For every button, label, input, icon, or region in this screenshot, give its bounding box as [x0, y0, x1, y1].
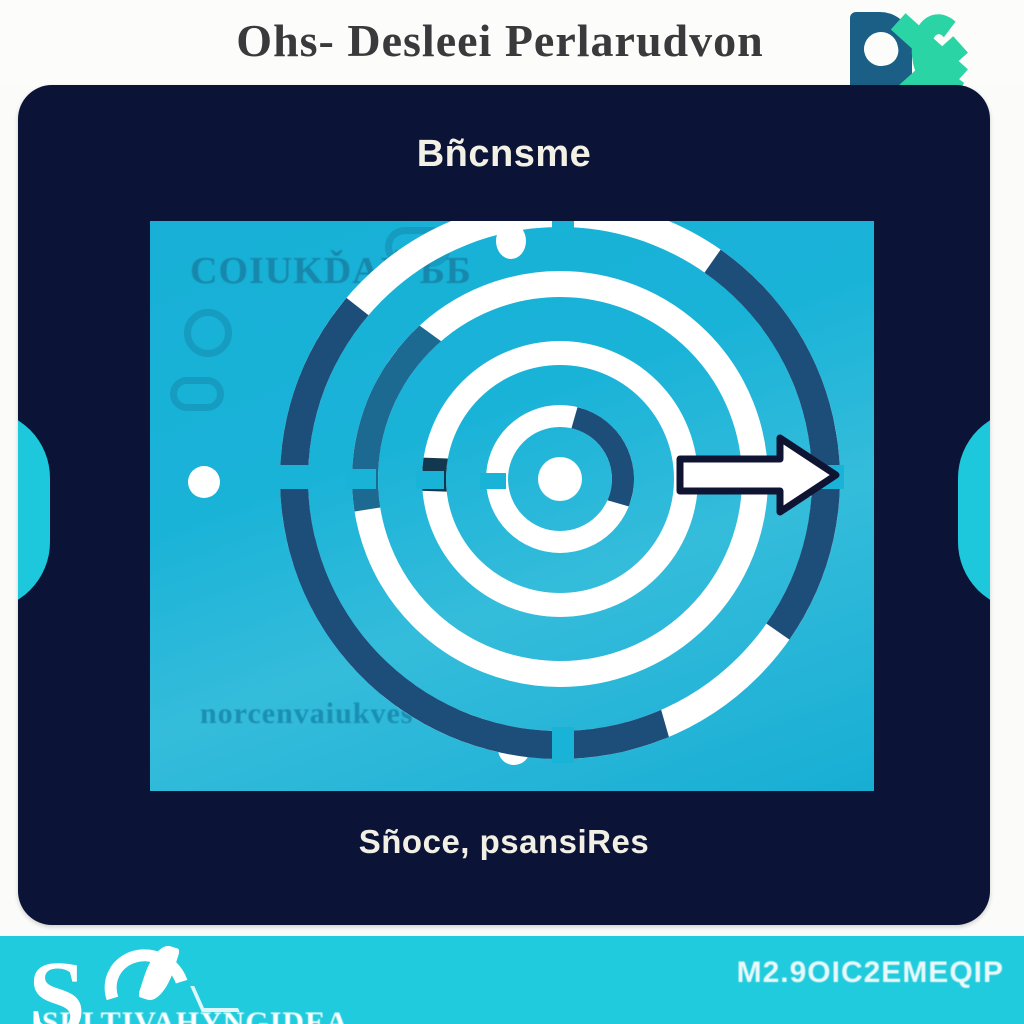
ghost-pill-icon-2: [170, 377, 224, 411]
dark-slide-panel: Bñcnsme COIUKĎAÝ ЬБ norcenvaiukves: [18, 85, 990, 925]
ring-gap-bottom: [552, 727, 574, 763]
footer-right-text: M2.9OIC2EMEQIP: [737, 956, 1004, 990]
ring-gap-top: [552, 221, 574, 231]
ring-gap-left: [276, 465, 312, 489]
ring-gap-core-left: [480, 473, 506, 489]
left-knob-shape: [18, 410, 50, 610]
chart-canvas: COIUKĎAÝ ЬБ norcenvaiukves: [150, 221, 874, 791]
footer-wordmark: SULTIVAHYNGIDEA: [42, 1006, 349, 1024]
right-knob-shape: [958, 410, 990, 610]
page-root: Ohs- Desleei Perlarudvon Bñcnsme COIUKĎA…: [0, 0, 1024, 1024]
ring-gap-mid-left: [346, 469, 376, 489]
ring-center-dot: [538, 457, 582, 501]
ghost-circle-icon: [184, 309, 232, 357]
page-title: Ohs- Desleei Perlarudvon: [170, 6, 830, 76]
ring-gap-inner-left: [416, 471, 444, 489]
footer-brand-logo: S SULTIVAHYNGIDEA: [18, 942, 308, 1024]
panel-footer-caption: Sñoce, psansiRes: [18, 823, 990, 861]
page-header: Ohs- Desleei Perlarudvon: [0, 0, 1024, 86]
right-arrow-icon: [674, 433, 842, 517]
footer-bar: S SULTIVAHYNGIDEA M2.9OIC2EMEQIP: [0, 936, 1024, 1024]
logo-letter-p-counter: [861, 29, 901, 69]
marker-dot-left: [188, 466, 220, 498]
panel-heading: Bñcnsme: [18, 133, 990, 176]
